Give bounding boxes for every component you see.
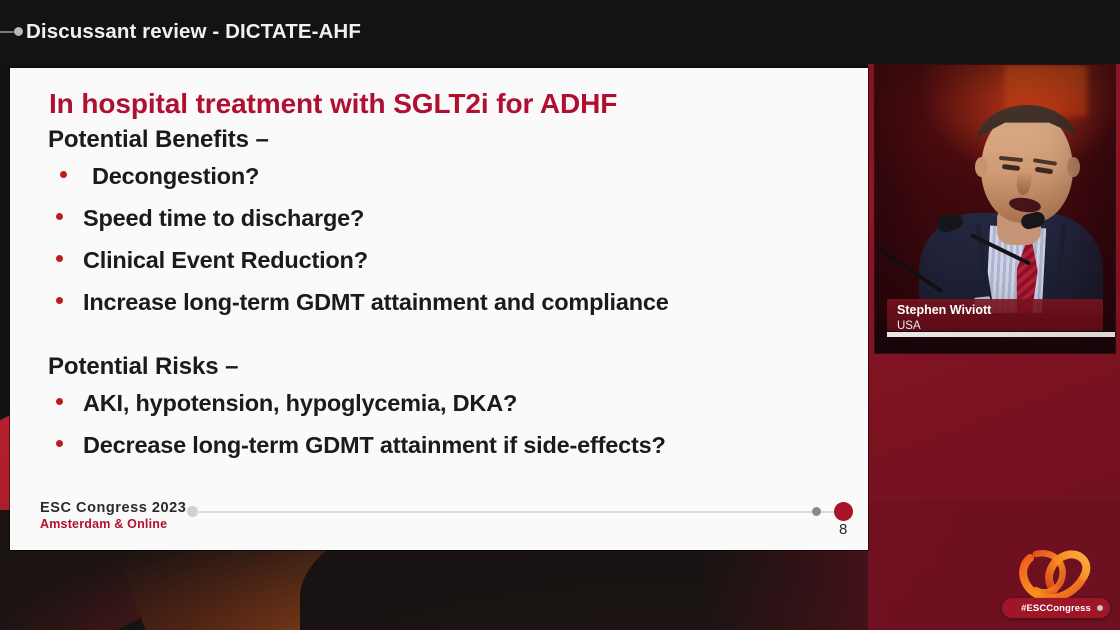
bullet-item: AKI, hypotension, hypoglycemia, DKA? [48,384,848,422]
bullet-label: Increase long-term GDMT attainment and c… [83,283,669,321]
bullet-label: Decongestion? [92,157,259,195]
presentation-slide[interactable]: In hospital treatment with SGLT2i for AD… [10,68,868,550]
speaker-name-plate: Stephen Wiviott USA [887,299,1103,331]
timeline-dot-icon[interactable] [14,27,23,36]
hashtag-dot-icon [1097,605,1103,611]
section-heading-risks: Potential Risks – [48,353,848,381]
bullet-label: Clinical Event Reduction? [83,241,368,279]
esc-brand-logo[interactable]: #ESCCongress [1000,548,1110,624]
bullet-dot-icon [56,213,63,220]
bullet-label: Decrease long-term GDMT attainment if si… [83,426,666,464]
bullet-dot-icon [56,440,63,447]
progress-dot-previous[interactable] [812,507,821,516]
speaker-ear-left [975,157,988,177]
page-title: Discussant review - DICTATE-AHF [26,20,361,44]
bullet-item: Increase long-term GDMT attainment and c… [48,283,848,321]
speaker-video-feed[interactable]: Stephen Wiviott USA [875,65,1115,353]
congress-name: ESC Congress 2023 [40,500,186,516]
slide-footer: ESC Congress 2023 Amsterdam & Online 8 [10,488,868,550]
bullet-item: Speed time to discharge? [48,199,848,237]
bullet-item: Clinical Event Reduction? [48,241,848,279]
name-plate-underline [887,332,1115,337]
bullet-label: AKI, hypotension, hypoglycemia, DKA? [83,384,517,422]
section-heading-benefits: Potential Benefits – [48,126,848,154]
bullet-dot-icon [56,297,63,304]
hashtag-badge[interactable]: #ESCCongress [1002,598,1110,618]
esc-congress-logo: ESC Congress 2023 Amsterdam & Online [40,500,186,531]
bullet-dot-icon [56,255,63,262]
speaker-ear-right [1067,157,1080,177]
speaker-name: Stephen Wiviott [897,303,1103,319]
slide-body: Potential Benefits – Decongestion? Speed… [48,126,848,468]
bullet-label: Speed time to discharge? [83,199,364,237]
speaker-country: USA [897,319,1103,333]
bullet-dot-icon [60,171,67,178]
bullet-dot-icon [56,398,63,405]
congress-location: Amsterdam & Online [40,517,186,531]
progress-dot-active[interactable] [834,502,853,521]
section-spacer [48,325,848,353]
hashtag-label: #ESCCongress [1021,603,1091,614]
slide-number: 8 [839,521,847,538]
bullet-item: Decongestion? [48,157,848,195]
slide-title: In hospital treatment with SGLT2i for AD… [49,88,617,120]
page-header: Discussant review - DICTATE-AHF [0,0,1120,64]
bullet-item: Decrease long-term GDMT attainment if si… [48,426,848,464]
slide-progress-track[interactable] [196,511,836,513]
